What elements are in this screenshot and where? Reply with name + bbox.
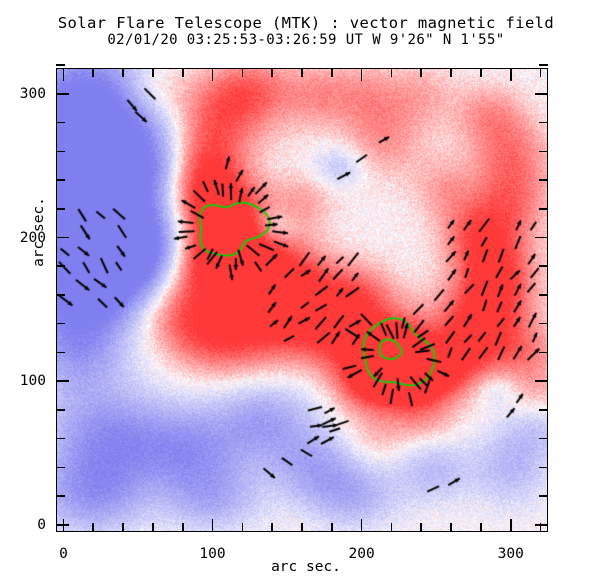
y-tick-right-120 [539, 352, 548, 354]
x-tick-260 [450, 523, 452, 532]
y-tick-80 [56, 409, 65, 411]
x-tick-top-220 [391, 68, 393, 77]
solar-magnetogram-figure: Solar Flare Telescope (MTK) : vector mag… [0, 0, 612, 585]
y-tick-right-280 [539, 122, 548, 124]
x-tick-top-160 [301, 68, 303, 77]
y-tick-160 [56, 294, 65, 296]
y-tick-100 [56, 380, 69, 382]
y-tick-0 [56, 524, 69, 526]
x-tick-80 [182, 523, 184, 532]
y-tick-140 [56, 323, 65, 325]
y-tick-60 [56, 438, 65, 440]
x-tick-140 [271, 523, 273, 532]
x-tick-top-20 [92, 68, 94, 77]
x-tick-300 [510, 519, 512, 532]
x-tick-top-300 [510, 68, 512, 81]
x-tick-top-180 [331, 68, 333, 77]
y-tick-label-0: 0 [37, 517, 46, 533]
x-tick-60 [152, 523, 154, 532]
x-tick-top-260 [450, 68, 452, 77]
y-tick-right-300 [535, 93, 548, 95]
x-tick-top-140 [271, 68, 273, 77]
y-tick-240 [56, 179, 65, 181]
y-tick-320 [56, 64, 65, 66]
x-tick-160 [301, 523, 303, 532]
x-tick-top-240 [420, 68, 422, 77]
x-tick-top-320 [540, 68, 542, 77]
y-tick-20 [56, 495, 65, 497]
x-tick-top-200 [361, 68, 363, 81]
y-tick-right-20 [539, 495, 548, 497]
y-tick-right-0 [535, 524, 548, 526]
y-tick-120 [56, 352, 65, 354]
y-tick-right-160 [539, 294, 548, 296]
y-tick-right-60 [539, 438, 548, 440]
title-line-1: Solar Flare Telescope (MTK) : vector mag… [0, 14, 612, 32]
y-tick-right-80 [539, 409, 548, 411]
y-tick-180 [56, 265, 65, 267]
y-tick-right-320 [539, 64, 548, 66]
y-tick-right-180 [539, 265, 548, 267]
y-tick-220 [56, 208, 65, 210]
x-tick-top-120 [242, 68, 244, 77]
y-tick-right-100 [535, 380, 548, 382]
x-tick-120 [242, 523, 244, 532]
y-axis-label: arc sec. [31, 197, 47, 267]
x-tick-280 [480, 523, 482, 532]
x-tick-top-40 [122, 68, 124, 77]
x-tick-top-280 [480, 68, 482, 77]
x-tick-180 [331, 523, 333, 532]
x-tick-100 [212, 519, 214, 532]
y-tick-right-220 [539, 208, 548, 210]
y-tick-280 [56, 122, 65, 124]
x-axis-label: arc sec. [0, 559, 612, 575]
y-tick-300 [56, 93, 69, 95]
y-tick-200 [56, 237, 69, 239]
x-tick-40 [122, 523, 124, 532]
y-tick-260 [56, 151, 65, 153]
x-tick-240 [420, 523, 422, 532]
title-line-2: 02/01/20 03:25:53-03:26:59 UT W 9'26" N … [0, 32, 612, 49]
magnetogram-plot-area [56, 68, 548, 532]
x-tick-top-100 [212, 68, 214, 81]
y-tick-40 [56, 467, 65, 469]
x-tick-20 [92, 523, 94, 532]
y-tick-right-260 [539, 151, 548, 153]
x-tick-top-0 [63, 68, 65, 81]
x-tick-200 [361, 519, 363, 532]
y-tick-right-200 [535, 237, 548, 239]
y-tick-right-240 [539, 179, 548, 181]
figure-title: Solar Flare Telescope (MTK) : vector mag… [0, 14, 612, 49]
vector-and-contour-overlay [56, 68, 548, 532]
x-tick-220 [391, 523, 393, 532]
y-tick-label-300: 300 [20, 86, 46, 102]
y-tick-right-40 [539, 467, 548, 469]
x-tick-top-60 [152, 68, 154, 77]
y-tick-right-140 [539, 323, 548, 325]
y-tick-label-100: 100 [20, 373, 46, 389]
x-tick-top-80 [182, 68, 184, 77]
